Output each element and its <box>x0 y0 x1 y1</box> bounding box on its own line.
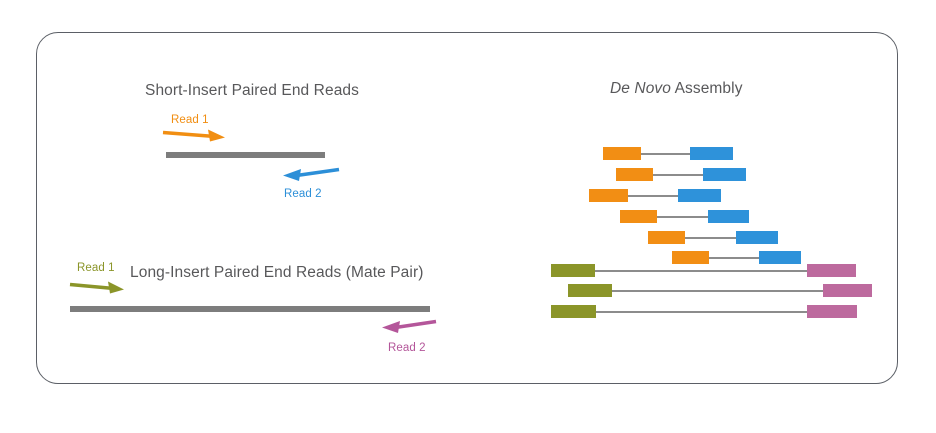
short-insert-read1-segment <box>672 251 709 264</box>
short-insert-read1-segment <box>616 168 653 181</box>
short-insert-read2-segment <box>736 231 778 244</box>
short-insert-connector <box>685 237 736 239</box>
short-insert-read1-segment <box>603 147 641 160</box>
short-insert-pair-row <box>0 251 936 264</box>
short-insert-pair-row <box>0 189 936 202</box>
short-insert-connector <box>653 174 703 176</box>
long-insert-pair-row <box>0 284 936 297</box>
long-insert-connector <box>612 290 823 292</box>
short-insert-read1-segment <box>620 210 657 223</box>
short-insert-read1-segment <box>589 189 628 202</box>
short-insert-connector <box>709 257 759 259</box>
short-insert-pair-row <box>0 210 936 223</box>
short-insert-pair-row <box>0 168 936 181</box>
short-insert-read1-segment <box>648 231 685 244</box>
short-insert-connector <box>657 216 708 218</box>
short-insert-read2-segment <box>708 210 749 223</box>
long-insert-read2-segment <box>807 305 857 318</box>
figure-root: Short-Insert Paired End Reads Read 1 Rea… <box>0 0 936 433</box>
short-insert-connector <box>641 153 690 155</box>
short-insert-read2-segment <box>703 168 746 181</box>
short-insert-connector <box>628 195 678 197</box>
long-insert-read2-segment <box>807 264 856 277</box>
long-insert-connector <box>596 311 807 313</box>
long-insert-read1-segment <box>551 264 595 277</box>
long-insert-connector <box>595 270 807 272</box>
long-insert-read1-segment <box>568 284 612 297</box>
short-insert-pair-row <box>0 231 936 244</box>
short-insert-read2-segment <box>690 147 733 160</box>
long-insert-read2-segment <box>823 284 872 297</box>
long-insert-pair-row <box>0 264 936 277</box>
short-insert-pair-row <box>0 147 936 160</box>
short-insert-read2-segment <box>759 251 801 264</box>
short-insert-read2-segment <box>678 189 721 202</box>
long-insert-read1-segment <box>551 305 596 318</box>
de-novo-assembly-group <box>0 0 936 433</box>
long-insert-pair-row <box>0 305 936 318</box>
